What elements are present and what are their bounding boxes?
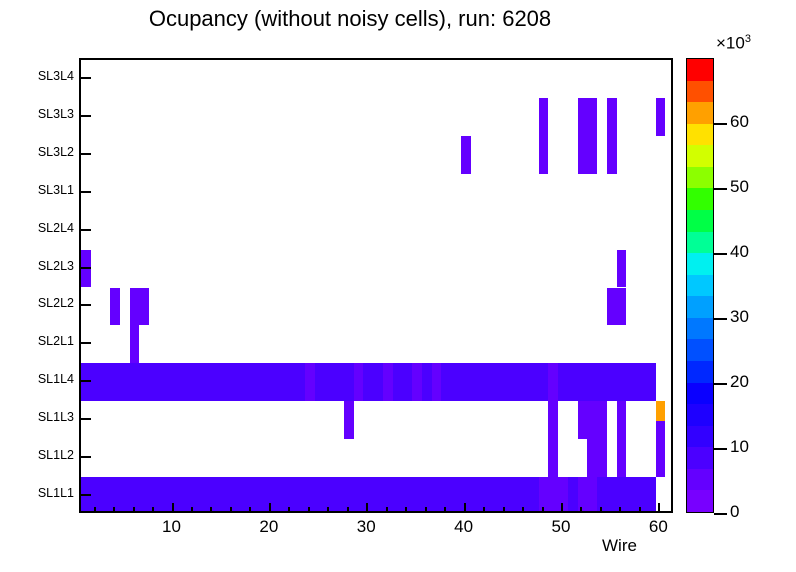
z-axis-tick (714, 448, 727, 450)
heatmap-cell (130, 288, 140, 326)
heatmap-cell (305, 363, 315, 401)
y-axis-tick (79, 77, 91, 79)
heatmap-cell (130, 325, 140, 363)
palette-band (687, 102, 713, 124)
x-axis-tick (327, 507, 329, 513)
x-axis-tick (172, 503, 174, 513)
heatmap-cell (617, 401, 627, 439)
palette-band (687, 383, 713, 405)
x-axis-title: Wire (602, 536, 682, 556)
palette-band (687, 469, 713, 491)
y-axis-tick (79, 494, 91, 496)
z-multiplier-base: ×10 (716, 34, 745, 53)
y-axis-label-sl1l2: SL1L2 (2, 448, 74, 462)
x-axis-tick (444, 507, 446, 513)
heatmap-cell (578, 363, 656, 401)
x-axis-tick-label: 50 (538, 517, 584, 537)
x-axis-tick (249, 507, 251, 513)
palette-band (687, 124, 713, 146)
y-axis-label-sl2l2: SL2L2 (2, 296, 74, 310)
heatmap-cell (607, 136, 617, 174)
x-axis-tick (503, 507, 505, 513)
x-axis-tick (600, 507, 602, 513)
heatmap-cell (393, 477, 403, 513)
y-axis-label-sl1l4: SL1L4 (2, 372, 74, 386)
heatmap-cell (656, 439, 666, 477)
heatmap-cell (354, 363, 364, 401)
z-axis-tick (714, 383, 727, 385)
y-axis-tick (79, 304, 91, 306)
heatmap-cell (548, 439, 558, 477)
y-axis-label-sl1l3: SL1L3 (2, 410, 74, 424)
y-axis-tick (79, 267, 91, 269)
heatmap-cell (587, 98, 597, 136)
palette-band (687, 339, 713, 361)
palette-band (687, 210, 713, 232)
heatmap-cell (548, 363, 558, 401)
x-axis-tick-label: 20 (246, 517, 292, 537)
heatmap-cell (461, 136, 471, 174)
x-axis-tick (619, 507, 621, 513)
x-axis-tick (269, 503, 271, 513)
palette-band (687, 59, 713, 81)
z-axis-tick (714, 513, 727, 515)
y-axis-tick (79, 342, 91, 344)
z-axis-multiplier: ×103 (716, 33, 751, 54)
heatmap-cell (363, 363, 382, 401)
heatmap-cell (139, 288, 149, 326)
palette-band (687, 296, 713, 318)
heatmap-cell (432, 363, 442, 401)
color-palette-bar[interactable] (686, 58, 714, 513)
heatmap-cell (607, 98, 617, 136)
heatmap-cell (548, 401, 558, 439)
x-axis-tick (639, 507, 641, 513)
x-axis-tick (386, 507, 388, 513)
palette-band (687, 275, 713, 297)
y-axis-tick (79, 229, 91, 231)
x-axis-tick (308, 507, 310, 513)
heatmap-cell (617, 439, 627, 477)
x-axis-tick (230, 507, 232, 513)
heatmap-cell (315, 363, 354, 401)
y-axis-label-sl2l4: SL2L4 (2, 221, 74, 235)
x-axis-tick (483, 507, 485, 513)
y-axis-label-sl3l1: SL3L1 (2, 183, 74, 197)
x-axis-tick-label: 60 (635, 517, 681, 537)
palette-band (687, 253, 713, 275)
x-axis-tick (133, 507, 135, 513)
heatmap-cell (568, 477, 578, 513)
palette-band (687, 447, 713, 469)
z-multiplier-exponent: 3 (745, 33, 751, 45)
heatmap-cell (81, 250, 91, 288)
x-axis-tick (113, 507, 115, 513)
z-axis-tick-label: 30 (730, 307, 782, 327)
y-axis-tick (79, 153, 91, 155)
x-axis-tick (522, 507, 524, 513)
z-axis-tick-label: 20 (730, 372, 782, 392)
y-axis-tick (79, 456, 91, 458)
heatmap-cell (344, 401, 354, 439)
z-axis-tick (714, 123, 727, 125)
z-axis-tick (714, 318, 727, 320)
x-axis-tick (405, 507, 407, 513)
y-axis-tick (79, 418, 91, 420)
x-axis-tick (366, 503, 368, 513)
heatmap-cell (656, 98, 666, 136)
x-axis-tick (210, 507, 212, 513)
y-axis-label-sl3l3: SL3L3 (2, 107, 74, 121)
heatmap-cell (412, 363, 422, 401)
heatmap-cell (578, 136, 597, 174)
y-axis-tick (79, 191, 91, 193)
x-axis-tick (94, 507, 96, 513)
y-axis-tick (79, 115, 91, 117)
heatmap-cell (539, 136, 549, 174)
plot-frame[interactable] (79, 58, 673, 513)
palette-band (687, 404, 713, 426)
y-axis-label-sl3l4: SL3L4 (2, 69, 74, 83)
heatmap-cell (597, 477, 655, 513)
x-axis-tick (288, 507, 290, 513)
heatmap-cell (422, 363, 432, 401)
y-axis-label-sl3l2: SL3L2 (2, 145, 74, 159)
y-axis-label-sl1l1: SL1L1 (2, 486, 74, 500)
palette-band (687, 490, 713, 512)
palette-band (687, 81, 713, 103)
x-axis-tick-label: 40 (441, 517, 487, 537)
heatmap-cell (81, 363, 305, 401)
heatmap-cell (383, 363, 393, 401)
x-axis-tick (580, 507, 582, 513)
palette-band (687, 188, 713, 210)
heatmap-cell (393, 363, 412, 401)
y-axis-tick (79, 380, 91, 382)
x-axis-tick-label: 30 (343, 517, 389, 537)
x-axis-tick (152, 507, 154, 513)
heatmap-cell (539, 98, 549, 136)
heatmap-cell (587, 439, 606, 477)
palette-band (687, 426, 713, 448)
root-canvas: Ocupancy (without noisy cells), run: 620… (0, 0, 796, 572)
palette-band (687, 167, 713, 189)
x-axis-tick (425, 507, 427, 513)
z-axis-tick (714, 188, 727, 190)
y-axis-label-sl2l3: SL2L3 (2, 259, 74, 273)
y-axis-label-sl2l1: SL2L1 (2, 334, 74, 348)
palette-band (687, 318, 713, 340)
x-axis-tick (347, 507, 349, 513)
heatmap-cell (441, 363, 548, 401)
heatmap-cell (656, 401, 666, 421)
x-axis-tick (464, 503, 466, 513)
heatmap-cell (617, 250, 627, 288)
heatmap-cells (81, 60, 671, 511)
x-axis-tick (542, 507, 544, 513)
z-axis-tick-label: 10 (730, 437, 782, 457)
heatmap-cell (587, 401, 606, 439)
x-axis-tick (561, 503, 563, 513)
palette-band (687, 232, 713, 254)
page-title: Ocupancy (without noisy cells), run: 620… (0, 6, 700, 32)
z-axis-tick-label: 50 (730, 177, 782, 197)
z-axis-tick (714, 253, 727, 255)
x-axis-tick (191, 507, 193, 513)
palette-band (687, 145, 713, 167)
palette-band (687, 361, 713, 383)
heatmap-cell (110, 288, 120, 326)
x-axis-tick-label: 10 (149, 517, 195, 537)
z-axis-tick-label: 40 (730, 242, 782, 262)
heatmap-cell (578, 401, 588, 439)
heatmap-cell (558, 363, 577, 401)
z-axis-tick-label: 0 (730, 502, 782, 522)
x-axis-tick (658, 503, 660, 513)
z-axis-tick-label: 60 (730, 112, 782, 132)
heatmap-cell (607, 288, 626, 326)
